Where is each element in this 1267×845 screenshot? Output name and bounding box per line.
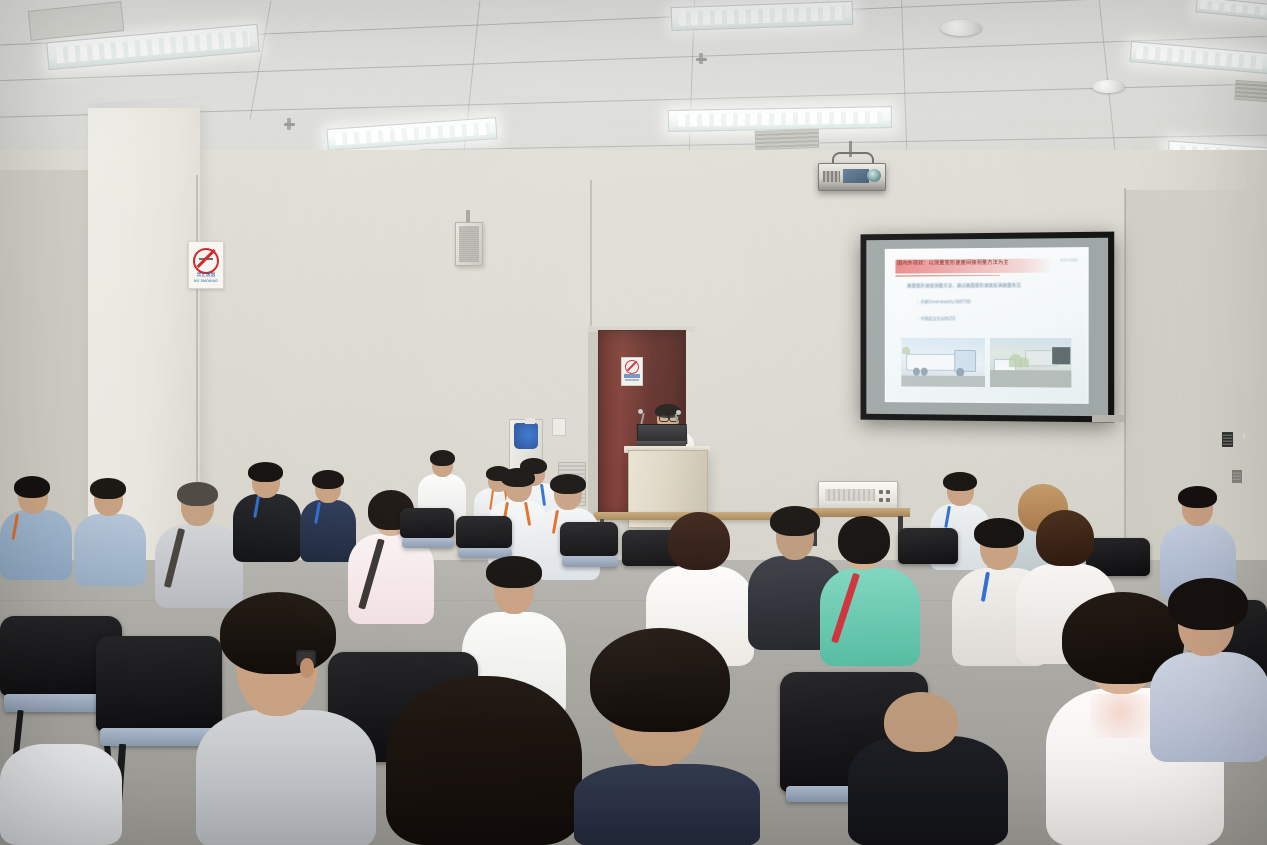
attendee-head: [884, 692, 958, 752]
water-bottle: [514, 423, 538, 449]
attendee: [1150, 578, 1267, 758]
ceiling-vent: [755, 129, 820, 150]
attendee-hair: [590, 628, 730, 732]
conference-room-photo: L. 禁止吸烟 NO SMOKING: [0, 0, 1267, 845]
attendee-torso: [1150, 652, 1267, 762]
instrument-panel: [825, 489, 875, 501]
attendee-hair: [838, 516, 890, 564]
attendee: [74, 478, 146, 582]
slide-bullet: 中国武汉光谷的LTD: [917, 316, 955, 322]
attendee-hair: [943, 472, 977, 491]
ceiling-projector: [818, 163, 886, 191]
attendee: [820, 516, 920, 662]
slide-logo: ZOYON: [1060, 257, 1077, 263]
attendee-hair: [1036, 510, 1094, 566]
slide-image-site: [990, 338, 1072, 388]
wall-outlet[interactable]: [1232, 470, 1242, 483]
wall-marking: L.: [1243, 433, 1251, 440]
attendee-hair: [501, 468, 535, 487]
door-no-smoking-sign: [621, 357, 643, 386]
attendee-hair: [220, 592, 336, 674]
ceiling-light: [1195, 0, 1267, 20]
attendee-torso: [196, 710, 376, 845]
slide-image-truck: [901, 338, 985, 388]
projector-vent: [823, 171, 840, 182]
speaker-grill: [459, 226, 479, 262]
attendee: [155, 482, 243, 604]
microphone-head-icon: [638, 409, 643, 414]
ceiling-light: [668, 106, 892, 132]
wall-ledge: [1092, 415, 1124, 422]
attendee-hair: [386, 676, 582, 845]
ear: [300, 658, 314, 678]
no-smoking-icon: [193, 248, 219, 274]
attendee-hair: [668, 512, 730, 570]
sprinkler-head-icon: [287, 118, 291, 130]
attendee-torso: [848, 736, 1008, 845]
smoke-detector-icon: [1092, 80, 1125, 93]
attendee-torso: [820, 568, 920, 666]
attendee-torso: [0, 510, 72, 580]
smoke-detector-icon: [940, 20, 982, 36]
attendee-hair: [486, 556, 542, 588]
attendee: [196, 592, 376, 845]
slide-title: 国内外现状：以测量变形速度间接测量方法为主: [897, 259, 1055, 267]
attendee: [386, 676, 582, 845]
ceiling-light: [1129, 41, 1267, 74]
projected-slide: 国内外现状：以测量变形速度间接测量方法为主 ZOYON 路面变形速度测量方法，通…: [885, 247, 1088, 404]
attendee: [233, 462, 301, 558]
no-smoking-label-en: NO SMOKING: [189, 279, 223, 283]
ceiling-vent: [28, 1, 125, 41]
screen-surface: 国内外现状：以测量变形速度间接测量方法为主 ZOYON 路面变形速度测量方法，通…: [866, 238, 1108, 417]
attendee-hair: [177, 482, 218, 506]
ceiling-vent: [1234, 80, 1267, 102]
slide-bullet: 丹麦Greenwood公司的TSD: [917, 299, 971, 305]
attendee-hair: [770, 506, 820, 536]
no-smoking-sign: 禁止吸烟 NO SMOKING: [188, 241, 224, 289]
attendee-torso: [0, 744, 122, 845]
attendee-torso: [74, 514, 146, 586]
slide-lead-line: 路面变形速度测量方法，通过路面变形速度反演路面弯沉: [907, 282, 1069, 289]
attendee-hair: [550, 474, 586, 494]
glasses-icon: [659, 415, 669, 422]
attendee-hair: [1168, 578, 1248, 630]
attendee-hair: [430, 450, 455, 466]
attendee-torso: [574, 764, 760, 845]
wall-speaker: [455, 222, 483, 266]
attendee-hair: [312, 470, 344, 489]
projection-screen: 国内外现状：以测量变形速度间接测量方法为主 ZOYON 路面变形速度测量方法，通…: [861, 232, 1115, 423]
sprinkler-head-icon: [699, 53, 703, 64]
attendee-hair: [90, 478, 126, 499]
attendee: [0, 476, 72, 576]
attendee: [0, 744, 122, 845]
ceiling-light: [671, 1, 854, 31]
attendee-hair: [1178, 486, 1217, 508]
ceiling-light: [326, 117, 497, 151]
wall-outlet[interactable]: [1222, 432, 1233, 447]
wall-switch-plate[interactable]: [552, 418, 566, 436]
slide-title-underline: [895, 275, 1000, 277]
projector-lens-icon: [867, 169, 881, 182]
microphone-head-icon: [676, 410, 681, 415]
attendee-hair: [14, 476, 50, 498]
no-smoking-label-cn: 禁止吸烟: [189, 272, 223, 278]
attendee: [574, 628, 760, 845]
projector-panel: [843, 169, 869, 183]
attendee: [848, 690, 1008, 845]
attendee-hair: [248, 462, 283, 482]
bottle-cap: [525, 418, 535, 424]
attendee-torso: [233, 494, 301, 562]
